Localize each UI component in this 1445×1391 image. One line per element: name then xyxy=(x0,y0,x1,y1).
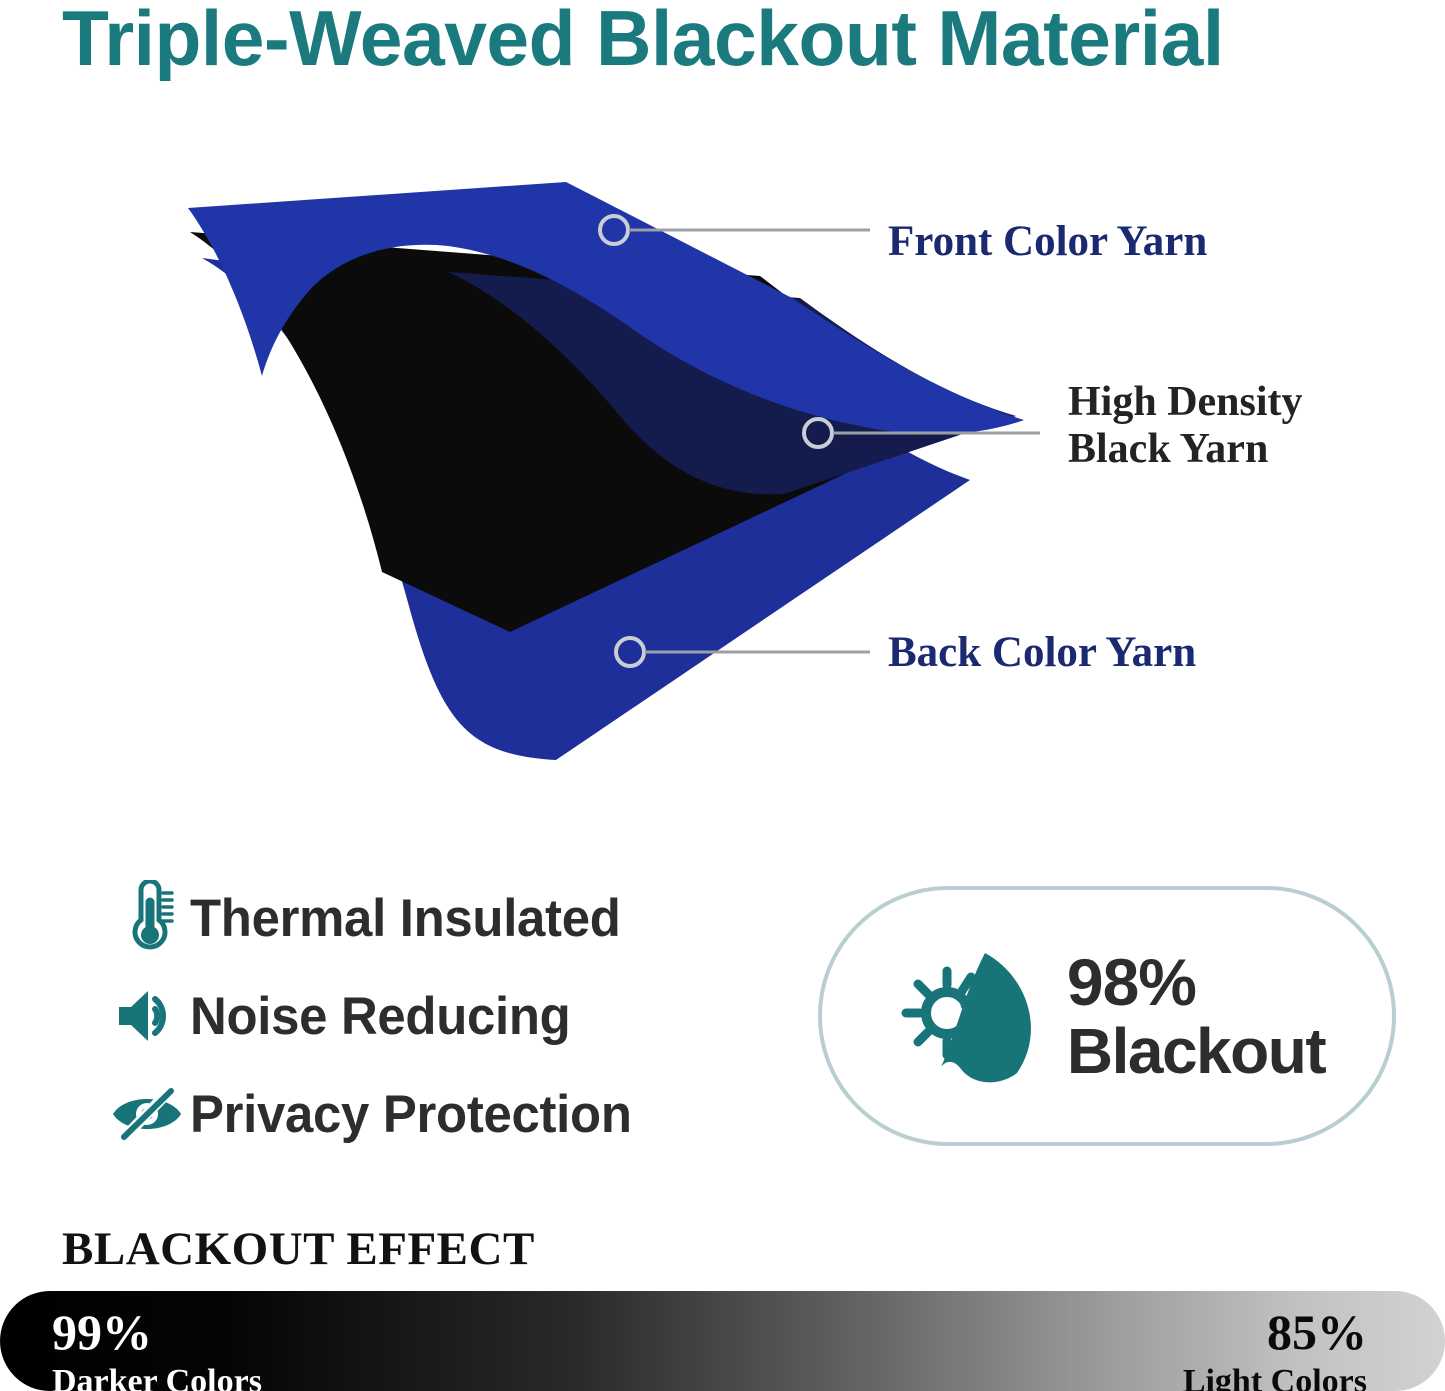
blackout-effect-heading: BLACKOUT EFFECT xyxy=(62,1222,535,1276)
feature-label-thermal-insulated: Thermal Insulated xyxy=(190,888,621,949)
infographic-page: Triple-Weaved Blackout Material xyxy=(0,0,1445,1391)
speaker-icon xyxy=(104,976,190,1056)
feature-noise-reducing: Noise Reducing xyxy=(104,970,784,1062)
sun-blocked-icon xyxy=(889,931,1059,1101)
eye-slash-icon xyxy=(104,1074,190,1154)
callout-black-line1: High Density xyxy=(1068,379,1303,425)
callout-label-high-density-black-yarn: High Density Black Yarn xyxy=(1068,379,1303,473)
thermometer-icon xyxy=(104,878,190,958)
feature-list: Thermal Insulated Noise Reducing xyxy=(104,872,784,1166)
light-colors-percent: 85% xyxy=(1183,1307,1367,1357)
blackout-effect-darker-colors: 99% Darker Colors xyxy=(52,1307,262,1391)
blackout-word: Blackout xyxy=(1067,1019,1325,1083)
callout-label-front-color-yarn: Front Color Yarn xyxy=(888,218,1207,266)
feature-label-noise-reducing: Noise Reducing xyxy=(190,986,570,1047)
blackout-percent: 98% xyxy=(1067,949,1325,1015)
blackout-effect-gradient-bar: 99% Darker Colors 85% Light Colors xyxy=(0,1291,1445,1391)
page-title: Triple-Weaved Blackout Material xyxy=(62,0,1372,80)
darker-colors-percent: 99% xyxy=(52,1307,262,1357)
darker-colors-label: Darker Colors xyxy=(52,1365,262,1391)
blackout-effect-light-colors: 85% Light Colors xyxy=(1183,1307,1367,1391)
callout-label-back-color-yarn: Back Color Yarn xyxy=(888,629,1196,677)
blackout-badge-text: 98% Blackout xyxy=(1067,949,1325,1083)
feature-label-privacy-protection: Privacy Protection xyxy=(190,1084,632,1145)
callout-black-line2: Black Yarn xyxy=(1068,426,1303,473)
feature-privacy-protection: Privacy Protection xyxy=(104,1068,784,1160)
feature-thermal-insulated: Thermal Insulated xyxy=(104,872,784,964)
light-colors-label: Light Colors xyxy=(1183,1365,1367,1391)
blackout-badge: 98% Blackout xyxy=(818,886,1396,1146)
